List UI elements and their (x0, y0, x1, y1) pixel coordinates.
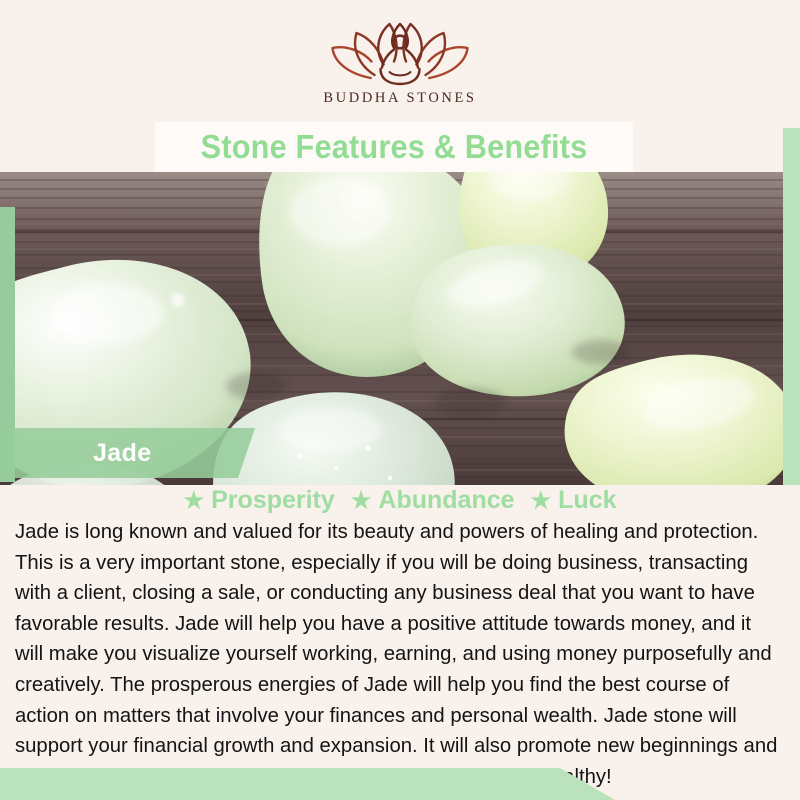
star-icon: ★ (531, 489, 552, 512)
title-plate: Stone Features & Benefits (155, 122, 633, 172)
decor-bar-bottom (0, 768, 615, 800)
brand-name: BUDDHA STONES (323, 90, 476, 107)
brand-header: BUDDHA STONES (0, 0, 800, 122)
lotus-meditation-icon (325, 15, 475, 87)
decor-bar-right (783, 128, 800, 485)
benefit-item: ★ Prosperity (183, 486, 334, 515)
benefit-label: Luck (558, 486, 616, 515)
stone-name-tag: Jade (0, 428, 255, 478)
benefit-label: Prosperity (211, 486, 335, 515)
star-icon: ★ (183, 489, 204, 512)
content-section: ★ Prosperity ★ Abundance ★ Luck Jade is … (0, 485, 800, 800)
benefit-item: ★ Luck (531, 486, 617, 515)
title-banner: Stone Features & Benefits (0, 122, 800, 172)
benefits-list: ★ Prosperity ★ Abundance ★ Luck (0, 483, 800, 517)
stone-name-label: Jade (93, 439, 152, 468)
page-title: Stone Features & Benefits (172, 122, 617, 172)
infographic-page: BUDDHA STONES Stone Features & Benefits (0, 0, 800, 800)
benefit-item: ★ Abundance (351, 486, 515, 515)
stone-description: Jade is long known and valued for its be… (15, 517, 784, 792)
star-icon: ★ (351, 489, 372, 512)
benefit-label: Abundance (378, 486, 514, 515)
